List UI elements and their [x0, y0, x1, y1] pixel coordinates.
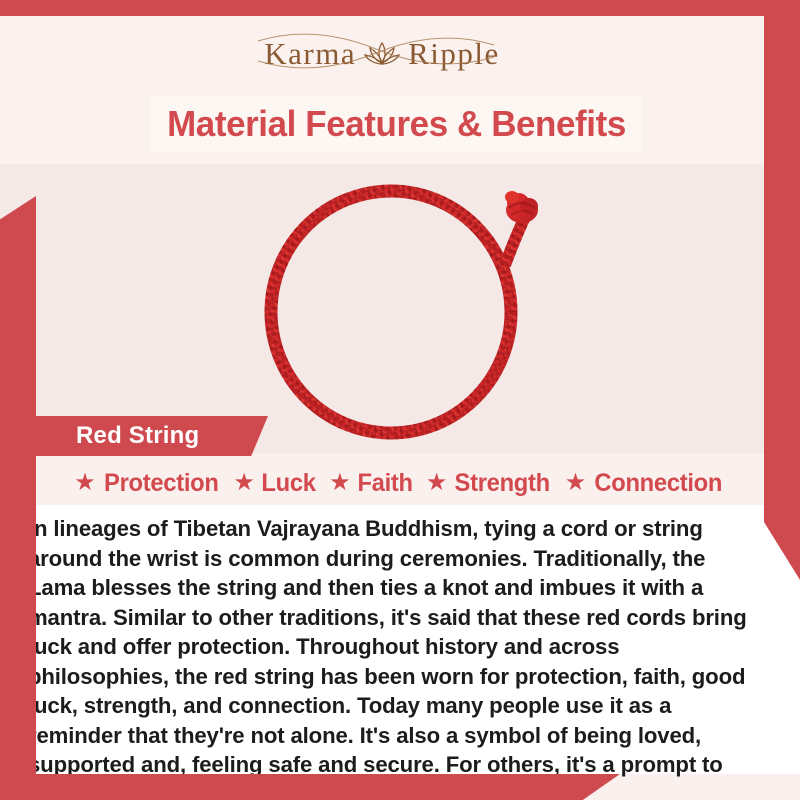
feature-item-strength: ★ Strength	[426, 469, 553, 498]
feature-item-luck: ★ Luck	[233, 469, 317, 498]
star-icon: ★	[426, 471, 448, 495]
material-badge: Red String	[28, 416, 268, 456]
star-icon: ★	[329, 471, 351, 495]
brand-name-left: Karma	[264, 36, 356, 72]
decor-left-edge	[0, 196, 36, 781]
brand-logo: Karma Ripple	[0, 36, 764, 72]
description-text: In lineages of Tibetan Vajrayana Buddhis…	[28, 514, 761, 800]
brand-name-right: Ripple	[408, 36, 500, 72]
material-badge-label: Red String	[76, 422, 199, 450]
page-title: Material Features & Benefits	[167, 103, 626, 145]
feature-label: Strength	[455, 469, 550, 498]
feature-label: Protection	[104, 469, 219, 498]
star-icon: ★	[74, 471, 96, 495]
lotus-icon	[362, 39, 402, 69]
infographic-page: Karma Ripple Material Features & Benefit…	[0, 0, 800, 800]
title-banner: Material Features & Benefits	[150, 96, 642, 152]
feature-label: Faith	[357, 469, 412, 498]
feature-list: ★ Protection ★ Luck ★ Faith ★ Strength ★…	[36, 462, 764, 504]
product-image-area	[0, 164, 800, 454]
star-icon: ★	[565, 471, 587, 495]
feature-item-faith: ★ Faith	[329, 469, 414, 498]
description-panel: In lineages of Tibetan Vajrayana Buddhis…	[0, 505, 800, 774]
feature-label: Connection	[595, 469, 723, 498]
star-icon: ★	[233, 471, 255, 495]
decor-bottom-bar	[0, 774, 620, 800]
red-string-bracelet-image	[235, 172, 565, 444]
feature-item-connection: ★ Connection	[565, 469, 726, 498]
decor-right-edge	[764, 0, 800, 580]
feature-item-protection: ★ Protection	[74, 469, 221, 498]
decor-top-bar	[0, 0, 800, 16]
feature-label: Luck	[261, 469, 315, 498]
